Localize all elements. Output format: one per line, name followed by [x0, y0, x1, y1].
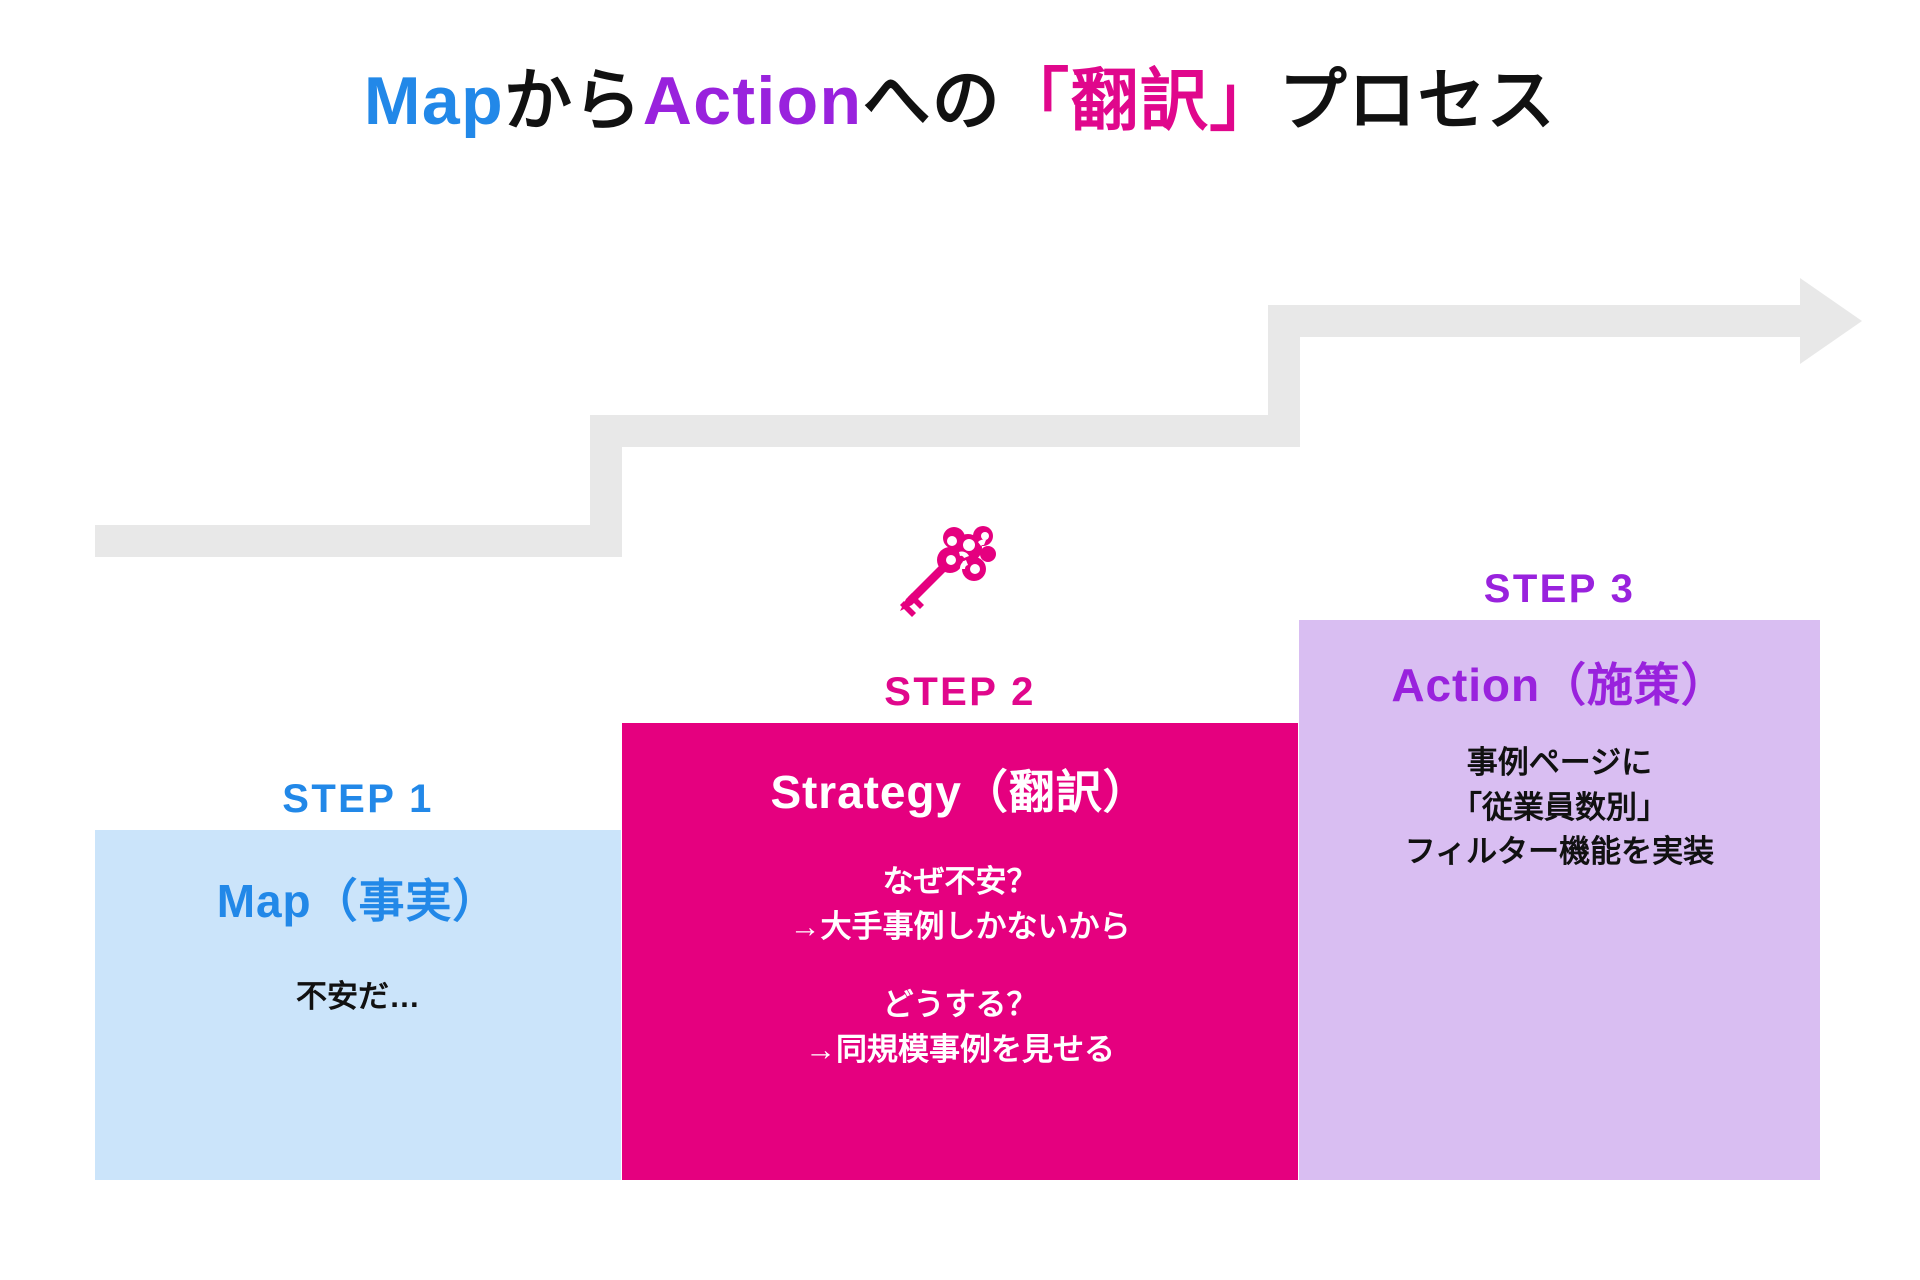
body-line: →同規模事例を見せる	[632, 1028, 1288, 1073]
body-group: どうする？ →同規模事例を見せる	[632, 983, 1288, 1072]
body-line: →大手事例しかないから	[632, 905, 1288, 950]
title-part-map: Map	[364, 63, 504, 139]
arrow-right-icon	[1800, 278, 1862, 364]
step-body-1: 不安だ…	[105, 975, 611, 1020]
stair-riser-1	[590, 415, 622, 557]
step-body-2: なぜ不安？ →大手事例しかないから どうする？ →同規模事例を見せる	[632, 860, 1288, 1073]
step-label-2: STEP 2	[622, 670, 1298, 715]
step-label-1: STEP 1	[95, 777, 621, 822]
body-line: 「従業員数別」	[1309, 786, 1810, 831]
step-label-3: STEP 3	[1299, 567, 1820, 612]
body-line: どうする？	[632, 983, 1288, 1028]
body-line: なぜ不安？	[632, 860, 1288, 905]
body-line: 事例ページに	[1309, 741, 1810, 786]
stair-tread-2	[590, 415, 1300, 447]
title-part-honyaku: 「翻訳」	[1001, 63, 1278, 139]
key-icon	[890, 512, 1000, 622]
title-part-kara: から	[504, 63, 643, 139]
step-heading-2: Strategy（翻訳）	[632, 765, 1288, 820]
title-part-process: プロセス	[1279, 63, 1556, 139]
step-body-3: 事例ページに 「従業員数別」 フィルター機能を実装	[1309, 741, 1810, 875]
step-heading-1: Map（事実）	[105, 874, 611, 929]
page-title: MapからActionへの「翻訳」プロセス	[0, 62, 1920, 140]
step-box-2[interactable]: Strategy（翻訳） なぜ不安？ →大手事例しかないから どうする？ →同規…	[622, 723, 1298, 1180]
body-group: 事例ページに 「従業員数別」 フィルター機能を実装	[1309, 741, 1810, 875]
title-part-heno: への	[862, 63, 1001, 139]
body-line: 不安だ…	[105, 975, 611, 1020]
body-group: なぜ不安？ →大手事例しかないから	[632, 860, 1288, 949]
step-heading-3: Action（施策）	[1309, 658, 1810, 713]
step-box-1[interactable]: Map（事実） 不安だ…	[95, 830, 621, 1180]
stair-tread-1	[95, 525, 622, 557]
body-line: フィルター機能を実装	[1309, 830, 1810, 875]
step-box-3[interactable]: Action（施策） 事例ページに 「従業員数別」 フィルター機能を実装	[1299, 620, 1820, 1180]
stair-riser-2	[1268, 305, 1300, 447]
body-group: 不安だ…	[105, 975, 611, 1020]
title-part-action: Action	[643, 63, 863, 139]
stair-tread-3	[1268, 305, 1820, 337]
